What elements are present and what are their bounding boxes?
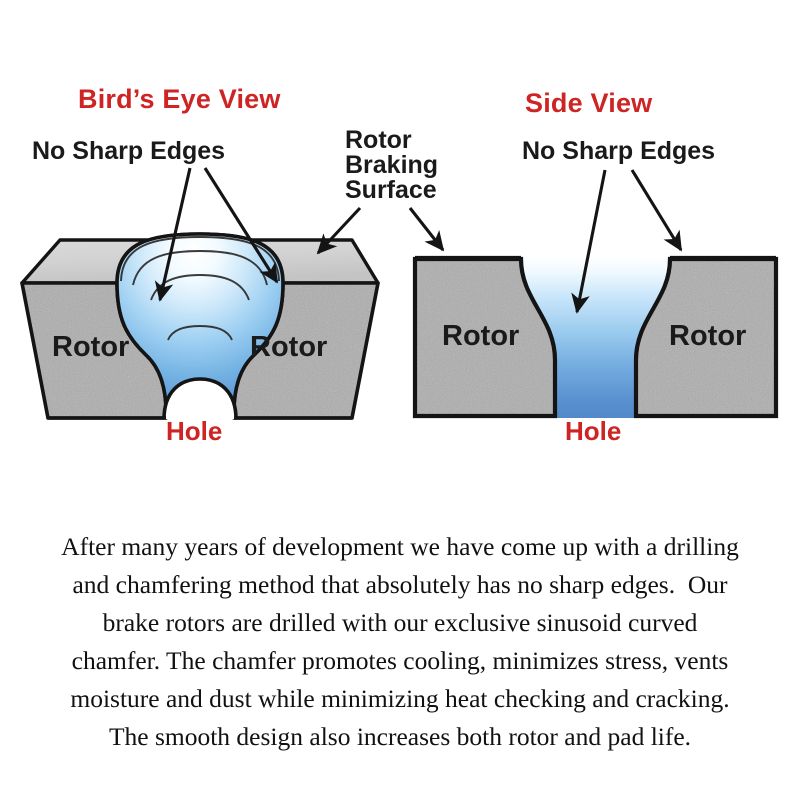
- right-rotor-label-right: Rotor: [669, 322, 746, 352]
- right-braking-surface-arrow: [410, 208, 443, 250]
- paragraph-line: The smooth design also increases both ro…: [6, 718, 794, 756]
- paragraph-line: chamfer. The chamfer promotes cooling, m…: [6, 642, 794, 680]
- paragraph-line: and chamfering method that absolutely ha…: [6, 566, 794, 604]
- paragraph-line: brake rotors are drilled with our exclus…: [6, 604, 794, 642]
- paragraph-line: moisture and dust while minimizing heat …: [6, 680, 794, 718]
- right-no-sharp-edges-label: No Sharp Edges: [522, 139, 715, 165]
- left-rotor-label-left: Rotor: [52, 333, 129, 363]
- right-diagram-title: Side View: [525, 90, 652, 118]
- right-hole-label: Hole: [565, 418, 621, 445]
- diagram-area: Bird’s Eye View No Sharp Edges Rotor Bra…: [0, 0, 800, 480]
- diagram-page: Bird’s Eye View No Sharp Edges Rotor Bra…: [0, 0, 800, 800]
- left-diagram-title: Bird’s Eye View: [78, 86, 281, 114]
- rbs-line-2: Braking: [345, 153, 438, 178]
- rotor-braking-surface-label: Rotor Braking Surface: [345, 128, 438, 203]
- left-diagram-birds-eye: [22, 168, 378, 419]
- right-diagram-side-view: [410, 170, 778, 418]
- paragraph-line: After many years of development we have …: [6, 528, 794, 566]
- left-hole-label: Hole: [166, 418, 222, 445]
- left-rotor-label-right: Rotor: [250, 333, 327, 363]
- diagram-illustration: [0, 0, 800, 480]
- description-paragraph: After many years of development we have …: [0, 528, 800, 756]
- left-no-sharp-edges-label: No Sharp Edges: [32, 139, 225, 165]
- right-rotor-label-left: Rotor: [442, 322, 519, 352]
- rbs-line-3: Surface: [345, 178, 438, 203]
- rbs-line-1: Rotor: [345, 128, 438, 153]
